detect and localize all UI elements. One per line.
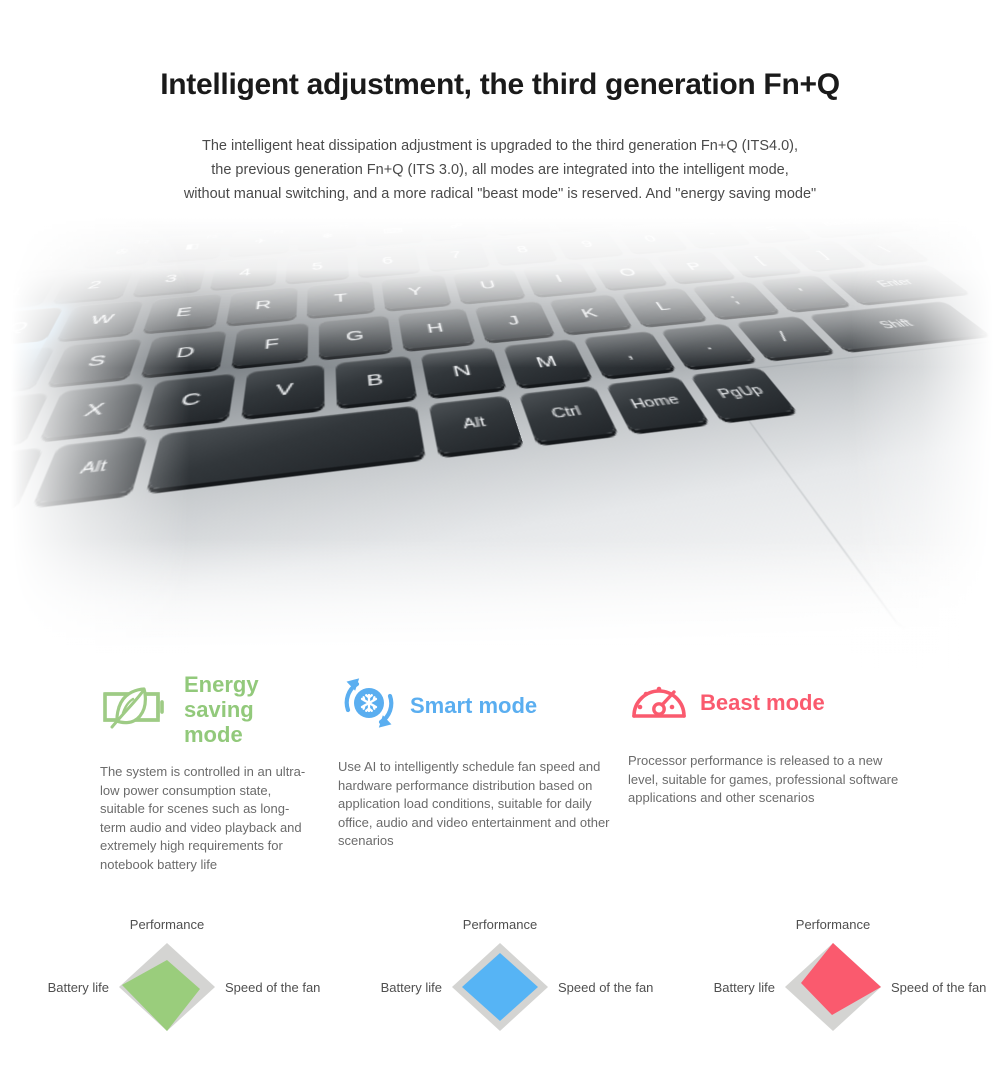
key-t: T [307,280,375,317]
key-o: O [589,256,667,289]
radar-axis-label-battery: Battery life [714,980,775,995]
key-9: 9 [552,230,623,259]
subtitle-line-3: without manual switching, and a more rad… [0,182,1000,206]
key-w: W [57,300,144,340]
key-i: I [522,262,598,296]
mode-header-smart: Smart mode [338,672,610,739]
keyboard-keybed: Esc F1☼ F2✇ F3◧ F4✈ F5❄ F6⌨ F7☍ F8✂ F9✆ … [0,218,1000,668]
radar-axis-label-fan-speed: Speed of the fan [225,980,320,995]
radar-axis-label-performance: Performance [129,917,203,932]
key-k: K [549,294,632,333]
key-r: R [226,287,298,325]
key-q-highlighted: Q [0,307,64,348]
mode-cards: Energy saving mode The system is control… [0,672,1000,874]
key-windows: ⊞ [0,447,44,518]
key-j: J [474,301,554,341]
key-z: Z [0,392,49,450]
key-e: E [143,293,222,332]
keyboard-perspective-stage: Esc F1☼ F2✇ F3◧ F4✈ F5❄ F6⌨ F7☍ F8✂ F9✆ … [0,218,1000,668]
subtitle-line-2: the previous generation Fn+Q (ITS 3.0), … [0,158,1000,182]
page-root: Intelligent adjustment, the third genera… [0,0,1000,1068]
key-shift-right: Shift [808,301,989,350]
key-f: F [232,323,309,367]
key-f7: F7☍ [426,218,488,240]
mode-description-smart: Use AI to intelligently schedule fan spe… [338,758,610,851]
key-5: 5 [285,251,349,283]
page-title: Intelligent adjustment, the third genera… [0,68,1000,102]
key-h: H [398,308,475,349]
key-p: P [655,251,735,283]
key-f9: F9✆ [546,218,612,230]
radar-chart-beast: Performance Speed of the fan Quiet exper… [667,905,1000,1035]
key-alt-left: Alt [34,436,148,504]
key-b: B [335,356,416,407]
laptop-keyboard-photo: Esc F1☼ F2✇ F3◧ F4✈ F5❄ F6⌨ F7☍ F8✂ F9✆ … [0,218,1000,668]
page-subtitle: The intelligent heat dissipation adjustm… [0,134,1000,206]
key-alt-right: Alt [429,395,524,454]
key-7: 7 [423,240,490,270]
key-c: C [143,373,236,427]
key-home: Home [606,376,709,431]
key-1: 1 [0,274,59,310]
key-3: 3 [133,262,207,296]
subtitle-line-1: The intelligent heat dissipation adjustm… [0,134,1000,158]
key-f1: F1☼ [8,243,88,274]
radar-axis-label-fan-speed: Speed of the fan [558,980,653,995]
refresh-snowflake-icon [338,672,400,739]
key-f3: F3◧ [157,233,225,262]
key-0: 0 [614,225,687,253]
key-6: 6 [356,245,420,276]
radar-value-polygon [462,953,538,1021]
radar-chart-energy-saving: Performance Speed of the fan Quiet exper… [0,905,333,1035]
radar-axis-label-performance: Performance [463,917,537,932]
mode-header-energy-saving: Energy saving mode [100,672,310,747]
key-f5: F5❄ [298,223,357,251]
key-f6: F6⌨ [363,218,423,245]
key-d: D [141,330,226,376]
key-n: N [421,347,506,396]
key-enter: Enter [825,264,968,303]
key-y: Y [381,274,451,310]
key-f8: F8✂ [487,218,551,235]
mode-card-smart: Smart mode Use AI to intelligently sched… [310,672,610,874]
mode-title-smart: Smart mode [410,694,537,718]
key-comma: , [583,331,675,377]
key-f2: F2✇ [83,238,157,268]
radar-chart-smart: Performance Speed of the fan Quiet exper… [333,905,666,1035]
key-l: L [621,288,707,326]
key-m: M [503,339,592,386]
key-u: U [452,268,525,303]
radar-axis-label-battery: Battery life [47,980,108,995]
key-g: G [319,315,393,358]
key-v: V [242,364,325,416]
mode-card-beast: Beast mode Processor performance is rele… [610,672,900,874]
key-backspace: Backspace [792,218,914,237]
key-f4: F4✈ [228,228,290,256]
speedometer-icon [628,672,690,733]
radar-axis-label-battery: Battery life [381,980,442,995]
header: Intelligent adjustment, the third genera… [0,0,1000,206]
radar-charts: Performance Speed of the fan Quiet exper… [0,905,1000,1035]
key-pgup: PgUp [689,367,796,420]
key-8: 8 [489,235,558,264]
key-ctrl-right: Ctrl [519,386,618,443]
key-x: X [40,383,144,439]
mode-description-energy-saving: The system is controlled in an ultra-low… [100,763,310,874]
mode-header-beast: Beast mode [628,672,900,733]
key-f10: F10☀ [605,218,673,225]
mode-description-beast: Processor performance is released to a n… [628,752,900,808]
battery-leaf-icon [100,683,174,736]
key-2: 2 [53,268,134,303]
mode-title-beast: Beast mode [700,691,825,715]
mode-title-energy-saving: Energy saving mode [184,672,310,747]
mode-card-energy-saving: Energy saving mode The system is control… [0,672,310,874]
radar-axis-label-performance: Performance [796,917,870,932]
radar-axis-label-fan-speed: Speed of the fan [891,980,986,995]
key-s: S [48,338,143,385]
key-4: 4 [210,256,278,289]
